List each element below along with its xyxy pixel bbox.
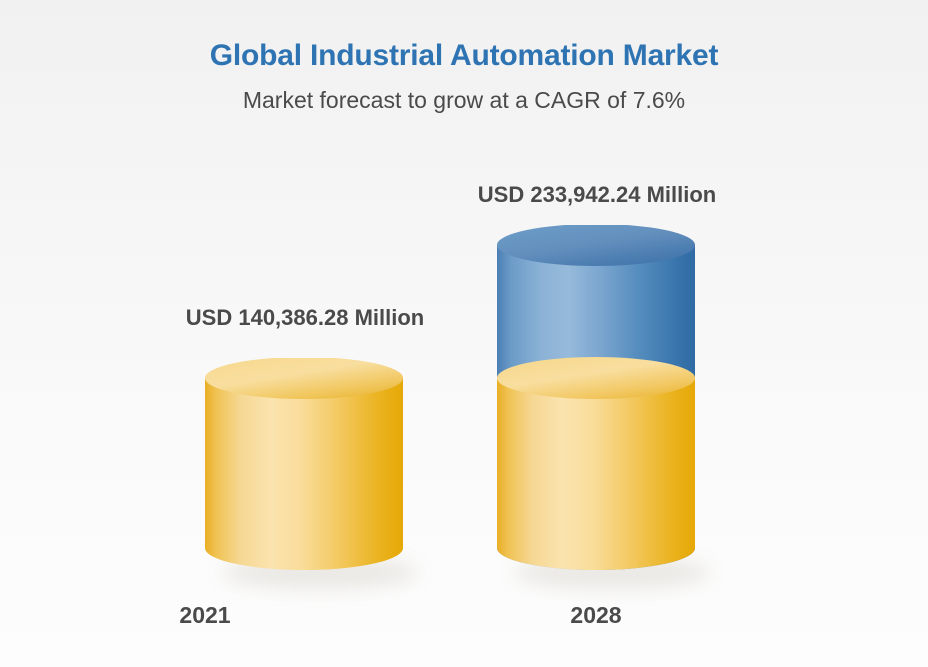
bar-2028-top-cap xyxy=(497,225,695,266)
bar-2021[interactable] xyxy=(198,358,418,593)
bar-2028-divider-cap xyxy=(497,357,695,399)
plot-area: USD 140,386.28 Million USD 233,942.24 Mi… xyxy=(0,0,928,667)
bar-2021-top-cap xyxy=(205,358,403,399)
bar-2021-body xyxy=(205,378,403,570)
chart-container: Global Industrial Automation Market Mark… xyxy=(0,0,928,667)
bar-2028[interactable] xyxy=(490,225,710,595)
bar-2021-value-label: USD 140,386.28 Million xyxy=(104,305,506,331)
bar-2028-lower-body xyxy=(497,378,695,570)
bar-2028-category-label: 2028 xyxy=(496,602,696,629)
bar-2021-category-label: 2021 xyxy=(105,602,305,629)
bar-2028-value-label: USD 233,942.24 Million xyxy=(396,182,798,208)
